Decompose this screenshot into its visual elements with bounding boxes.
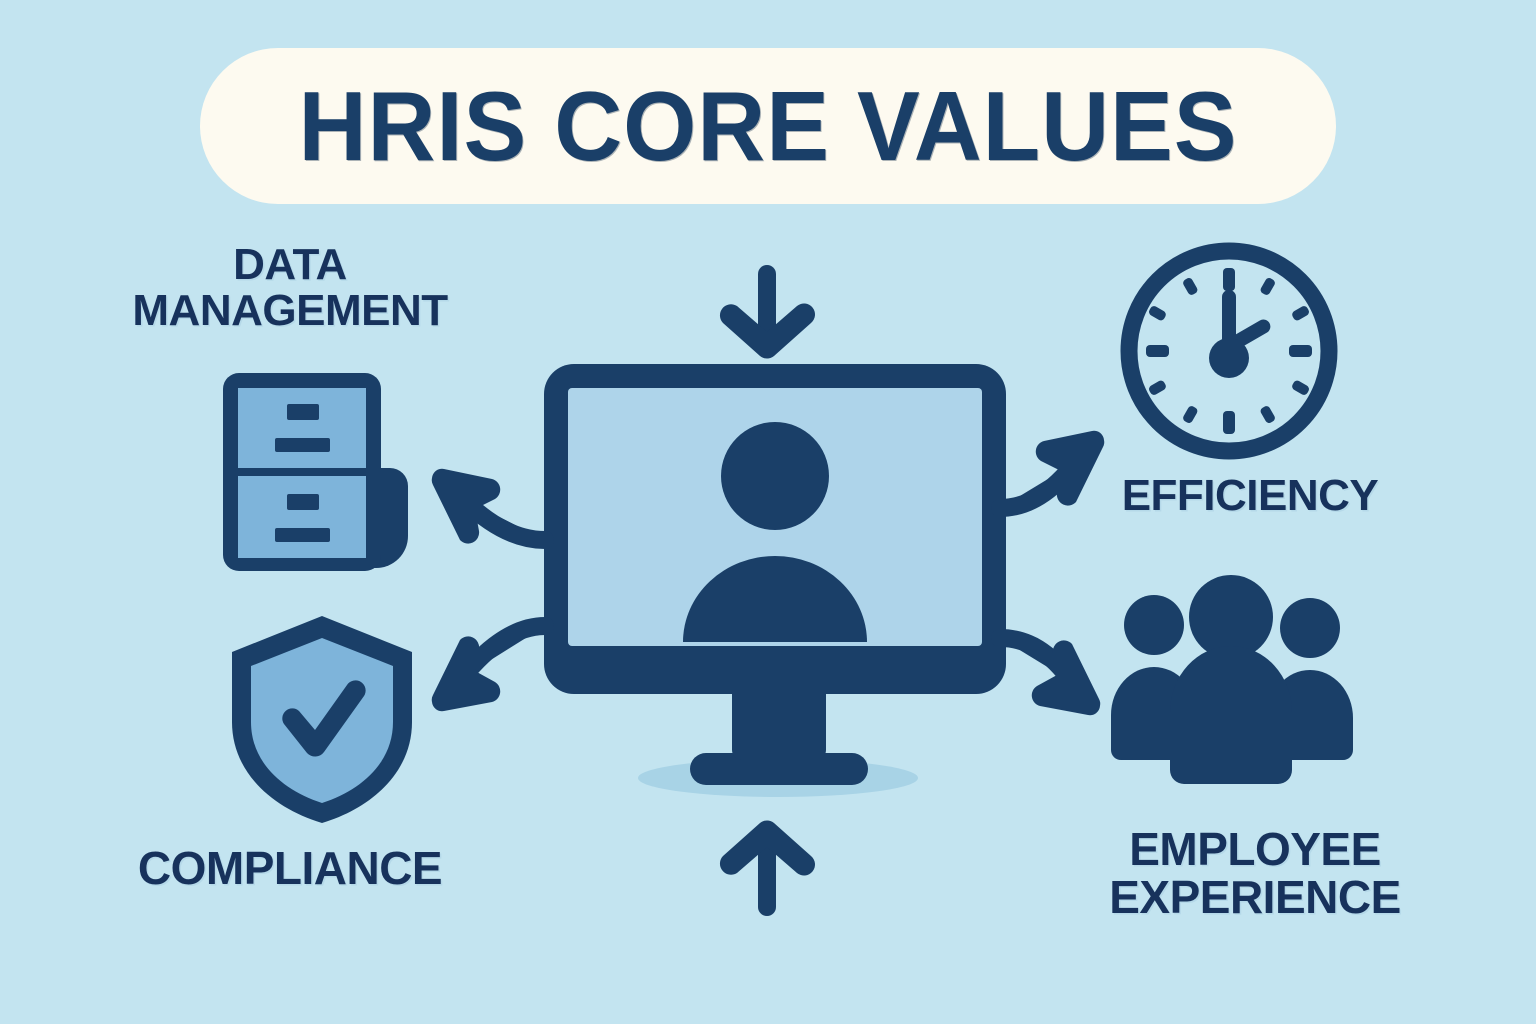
node-label-efficiency: EFFICIENCY: [1020, 473, 1480, 519]
node-label-compliance: COMPLIANCE: [60, 845, 520, 893]
people-group-icon: [1098, 575, 1366, 793]
arrow-up-icon: [720, 820, 815, 916]
filing-cabinet-icon: [218, 370, 418, 575]
curved-arrow-up-left-icon: [432, 469, 545, 544]
page-title: HRIS CORE VALUES: [299, 77, 1238, 175]
title-banner: HRIS CORE VALUES: [200, 48, 1336, 204]
shield-check-icon: [222, 612, 422, 827]
node-label-employee-experience: EMPLOYEE EXPERIENCE: [1020, 826, 1490, 922]
infographic-canvas: HRIS CORE VALUES DATA MANAGEMENT COMPLIA…: [0, 0, 1536, 1024]
clock-icon: [1118, 240, 1340, 462]
curved-arrow-down-right-icon: [1000, 638, 1100, 715]
monitor-with-user-icon: [540, 360, 1010, 800]
node-label-data-management: DATA MANAGEMENT: [60, 242, 520, 334]
curved-arrow-down-left-icon: [432, 626, 545, 711]
arrow-down-icon: [720, 265, 815, 359]
